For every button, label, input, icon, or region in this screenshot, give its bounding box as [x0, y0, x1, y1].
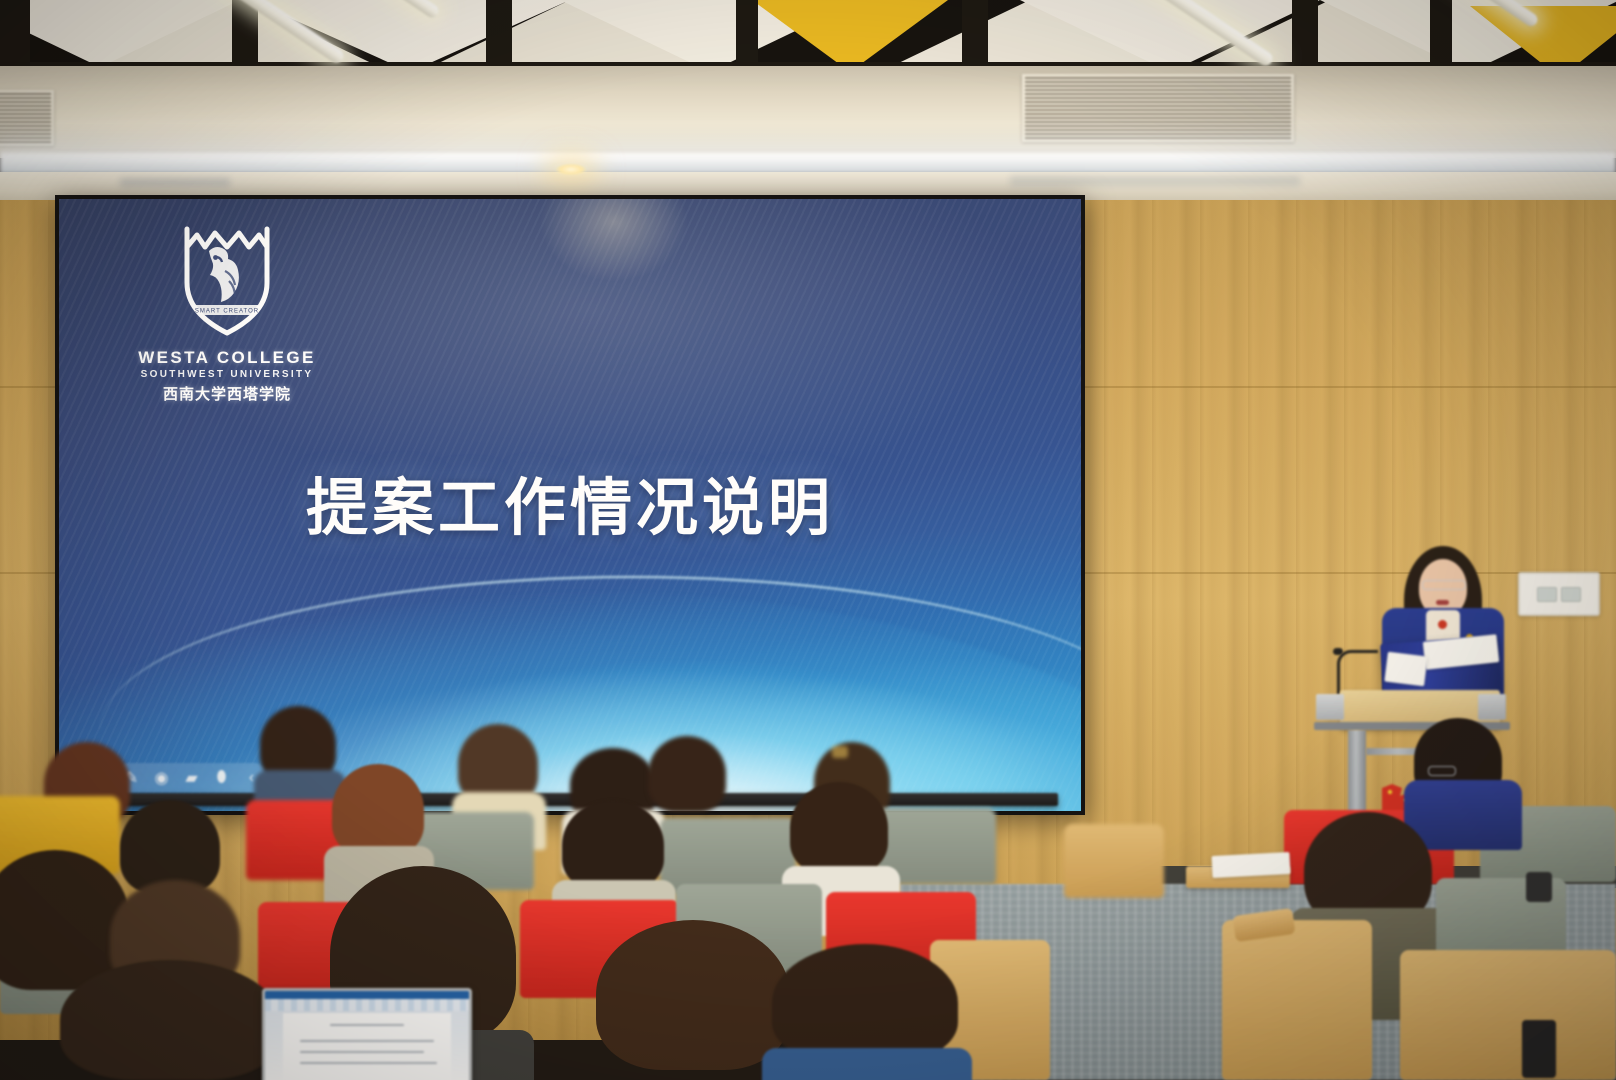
audience-member	[596, 920, 790, 1080]
attendee-laptop[interactable]	[262, 988, 472, 1080]
audience-hair	[596, 920, 790, 1070]
eraser-icon[interactable]: ▰	[182, 769, 201, 788]
conference-hall-photo: SMART CREATOR WESTA COLLEGE SOUTHWEST UN…	[0, 0, 1616, 1080]
seat-wood-back	[1400, 950, 1616, 1080]
audience-torso	[762, 1048, 972, 1080]
audience-member	[60, 960, 280, 1080]
desk-papers	[1211, 852, 1290, 878]
audience-member	[254, 706, 340, 814]
switch-rocker[interactable]	[1537, 587, 1557, 602]
annotation-toolbar[interactable]: ✎ ◉ ▰ ⬮ ‹	[114, 763, 269, 793]
audience-hair	[332, 764, 424, 856]
screen-glare	[539, 199, 689, 282]
switch-rocker[interactable]	[1561, 587, 1581, 602]
laptop-toolbar-ribbon[interactable]	[265, 999, 469, 1011]
hvac-grille	[0, 90, 54, 146]
seat-wood-back	[1222, 920, 1372, 1080]
hair-clip	[832, 746, 848, 758]
slide-title: 提案工作情况说明	[59, 457, 1081, 547]
cove-light-strip	[0, 152, 1616, 174]
upper-wall	[0, 66, 1616, 158]
audience-hair	[772, 944, 958, 1062]
logo-line-en-2: SOUTHWEST UNIVERSITY	[137, 369, 317, 380]
microphone-stem	[1337, 650, 1378, 695]
slide-surface[interactable]: SMART CREATOR WESTA COLLEGE SOUTHWEST UN…	[59, 199, 1081, 811]
seat-gray	[660, 818, 796, 894]
speaker-mouth	[1436, 600, 1449, 605]
spotlight-icon[interactable]: ◉	[152, 769, 171, 788]
laptop-document-page	[283, 1013, 450, 1080]
shield-lion-icon: SMART CREATOR	[173, 221, 281, 339]
laptop-titlebar	[265, 991, 469, 999]
ceiling	[0, 0, 1616, 72]
logo-line-en-1: WESTA COLLEGE	[137, 348, 317, 368]
logo-line-cn: 西南大学西塔学院	[137, 383, 317, 404]
speaker-glasses	[1422, 580, 1466, 590]
recessed-downlight	[554, 163, 588, 176]
armrest-device[interactable]	[1522, 1020, 1556, 1078]
soffit-recess-right	[1010, 176, 1300, 186]
svg-text:SMART CREATOR: SMART CREATOR	[195, 309, 259, 315]
seat-wood-back	[1064, 824, 1164, 898]
speaker-collar-pin	[1438, 620, 1447, 629]
audience-hair	[562, 800, 664, 890]
laptop-screen[interactable]	[265, 991, 469, 1080]
folder-papers	[1384, 652, 1427, 687]
hvac-grille	[1022, 74, 1294, 142]
soffit-recess-left	[120, 178, 230, 187]
light-switch-panel[interactable]	[1518, 572, 1600, 616]
audience-hair	[790, 782, 888, 874]
presentation-display[interactable]: SMART CREATOR WESTA COLLEGE SOUTHWEST UN…	[55, 195, 1085, 815]
audience-member	[772, 944, 958, 1080]
podium-side-shelf-left	[1316, 694, 1344, 720]
slide-logo: SMART CREATOR WESTA COLLEGE SOUTHWEST UN…	[137, 221, 317, 404]
microphone-head	[1333, 648, 1343, 655]
audience-glasses	[1428, 766, 1456, 776]
ellipse-tool-icon[interactable]: ⬮	[212, 769, 231, 788]
audience-hair	[60, 960, 280, 1080]
armrest-device[interactable]	[1526, 872, 1552, 902]
